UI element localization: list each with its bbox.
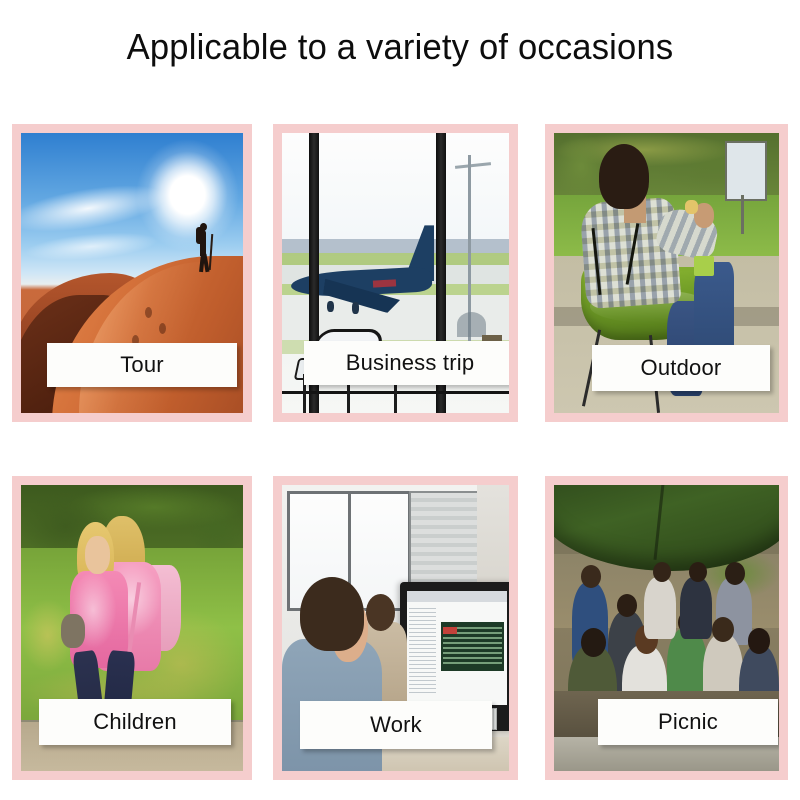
airplane-livery-stripe [373, 279, 396, 287]
gallery-cell-work[interactable]: Work [273, 476, 518, 780]
screen-toolbar [407, 591, 507, 602]
hiker-trekking-pole [209, 234, 214, 270]
occasions-grid: Tour [0, 118, 800, 788]
coworker-head [366, 594, 396, 631]
caption-label: Work [370, 712, 422, 738]
park-sign-board [725, 141, 767, 201]
person-head [599, 144, 649, 208]
photo-children: Children [21, 485, 243, 771]
gallery-cell-picnic[interactable]: Picnic [545, 476, 788, 780]
person-head [581, 628, 606, 657]
photo-outdoor: Outdoor [554, 133, 779, 413]
caption-plate-work: Work [300, 701, 492, 749]
caption-label: Outdoor [641, 355, 722, 381]
photo-picnic: Picnic [554, 485, 779, 771]
light-mast-base [457, 312, 487, 337]
gallery-cell-tour[interactable]: Tour [12, 124, 252, 422]
person-body [680, 577, 712, 640]
park-sign-post [741, 195, 744, 234]
photo-work: Work [282, 485, 509, 771]
snack-item [685, 200, 699, 214]
caption-label: Business trip [346, 350, 475, 376]
caption-label: Picnic [658, 709, 718, 735]
child-face [85, 536, 109, 573]
airplane-landing-gear [352, 302, 359, 313]
screen-text-lines [409, 608, 436, 694]
hiker-torso [200, 230, 206, 256]
caption-label: Children [93, 709, 177, 735]
caption-plate-business-trip: Business trip [304, 341, 509, 385]
person-head [617, 594, 637, 617]
caption-plate-tour: Tour [47, 343, 237, 387]
person-head [748, 628, 771, 654]
person-body [644, 577, 676, 640]
caption-plate-outdoor: Outdoor [592, 345, 770, 391]
airplane-landing-gear [327, 301, 334, 312]
gallery-cell-children[interactable]: Children [12, 476, 252, 780]
caption-plate-picnic: Picnic [598, 699, 778, 745]
photo-tour: Tour [21, 133, 243, 413]
page-title: Applicable to a variety of occasions [16, 26, 784, 68]
chair-brand-tag [694, 256, 714, 276]
hiker-silhouette [194, 218, 214, 274]
screen-alert-marker [443, 627, 457, 634]
gallery-cell-business-trip[interactable]: Business trip [273, 124, 518, 422]
gloves-in-hand [61, 614, 85, 648]
caption-plate-children: Children [39, 699, 231, 745]
person-head [581, 565, 601, 588]
gallery-cell-outdoor[interactable]: Outdoor [545, 124, 788, 422]
occasions-gallery-page: Applicable to a variety of occasions [0, 0, 800, 800]
footprint [159, 323, 166, 334]
worker-head [300, 577, 364, 651]
photo-business-trip: Business trip [282, 133, 509, 413]
person-head [712, 617, 735, 643]
caption-label: Tour [120, 352, 164, 378]
